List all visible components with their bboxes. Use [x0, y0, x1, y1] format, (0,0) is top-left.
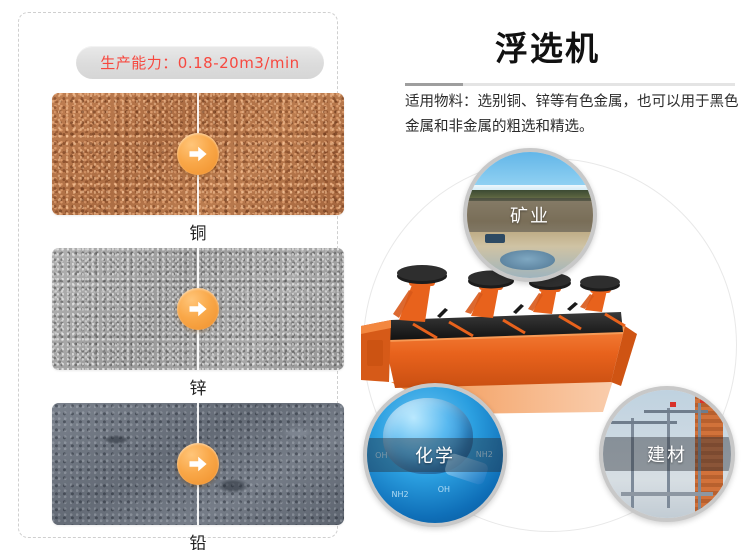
material-item-zinc: 锌 — [52, 248, 344, 402]
crane-flag — [670, 402, 676, 407]
material-image-zinc — [52, 248, 344, 370]
application-circle-chemistry[interactable]: OH NH2 OH NH2 化学 — [363, 383, 507, 527]
mining-truck — [485, 234, 505, 243]
application-label-building: 建材 — [647, 441, 687, 467]
crane-flag — [700, 398, 706, 403]
application-circle-building-materials[interactable]: 建材 — [599, 386, 735, 522]
title-divider — [405, 83, 735, 86]
material-label-lead: 铅 — [52, 531, 344, 550]
application-label-chemistry: 化学 — [415, 442, 455, 468]
arrow-right-icon[interactable] — [177, 288, 219, 330]
application-label-band: 矿业 — [467, 198, 593, 232]
application-label-mining: 矿业 — [510, 202, 550, 228]
material-image-copper — [52, 93, 344, 215]
application-label-band: 化学 — [367, 438, 503, 472]
arrow-right-icon[interactable] — [177, 443, 219, 485]
building-deck — [621, 492, 713, 496]
materials-panel: 生产能力：0.18-20m3/min 铜 — [18, 12, 338, 538]
capacity-badge: 生产能力：0.18-20m3/min — [76, 46, 324, 79]
application-label-band: 建材 — [603, 437, 731, 471]
material-label-zinc: 锌 — [52, 376, 344, 402]
material-item-copper: 铜 — [52, 93, 344, 247]
capacity-badge-label: 生产能力：0.18-20m3/min — [100, 52, 299, 73]
page-title: 浮选机 — [345, 22, 750, 70]
product-infographic: 生产能力：0.18-20m3/min 铜 — [0, 0, 750, 550]
arrow-right-icon[interactable] — [177, 133, 219, 175]
chem-formula-label: NH2 — [391, 490, 408, 499]
material-item-lead: 铅 — [52, 403, 344, 550]
material-image-lead — [52, 403, 344, 525]
material-label-copper: 铜 — [52, 221, 344, 247]
chem-formula-label: OH — [438, 485, 450, 494]
product-overview-panel: 浮选机 适用物料：选别铜、锌等有色金属，也可以用于黑色金属和非金属的粗选和精选。 — [345, 0, 750, 550]
mining-pit-water — [500, 250, 555, 270]
application-circle-mining[interactable]: 矿业 — [463, 148, 597, 282]
product-description: 适用物料：选别铜、锌等有色金属，也可以用于黑色金属和非金属的粗选和精选。 — [405, 90, 740, 140]
